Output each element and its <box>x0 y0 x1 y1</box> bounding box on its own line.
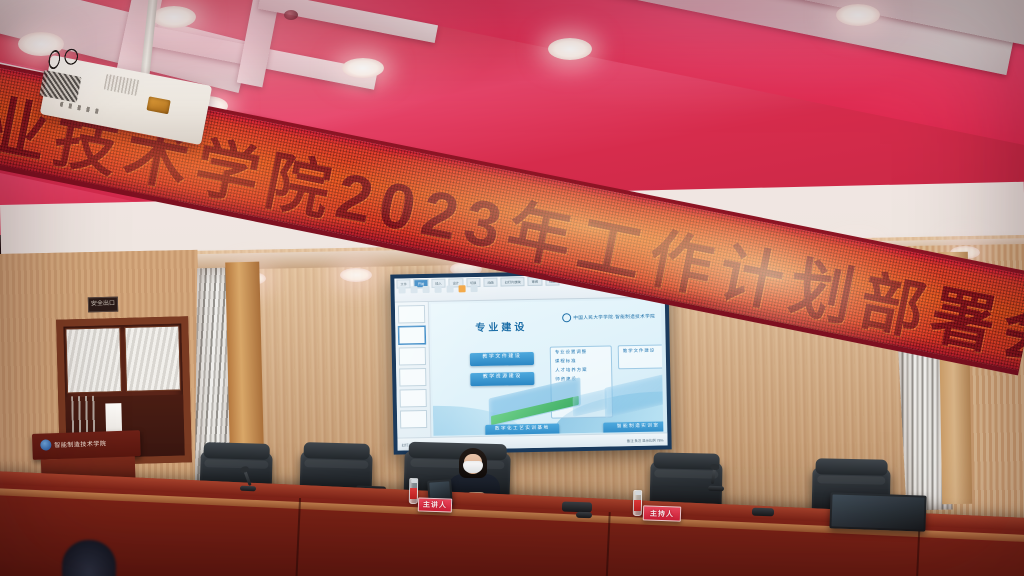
slide-canvas: 专业建设 中国人民大学学院·智能制造技术学院 教学文件建设 教学资源建设 专业设… <box>431 299 663 435</box>
slide-box-2: 教学文件建设 <box>618 344 664 369</box>
align-icon[interactable] <box>435 286 442 293</box>
slide-chip-1: 教学文件建设 <box>470 352 534 366</box>
slide-thumbnail[interactable] <box>398 305 425 324</box>
lectern-org-text: 智能制造技术学院 <box>54 438 106 449</box>
lectern-top: 智能制造技术学院 <box>32 430 141 460</box>
downlight <box>836 4 880 26</box>
bottle-cap <box>411 479 418 483</box>
school-emblem-icon <box>40 439 51 450</box>
slide-thumbnail-selected[interactable] <box>398 326 425 345</box>
face-mask <box>463 461 483 473</box>
laptop-screen <box>831 494 924 529</box>
slide-thumbnail[interactable] <box>400 410 427 429</box>
downlight <box>342 58 384 78</box>
downlight <box>152 6 196 28</box>
microphone-base <box>240 486 256 492</box>
open-laptop-right[interactable] <box>829 492 926 531</box>
slide-title: 专业建设 <box>475 318 527 334</box>
water-bottle <box>409 478 418 504</box>
water-bottle <box>633 490 642 516</box>
paste-icon[interactable] <box>399 286 406 293</box>
chair-headrest <box>816 458 888 475</box>
projector-buttons[interactable] <box>60 102 100 115</box>
bottle-cap <box>635 491 642 495</box>
slide-thumbnail[interactable] <box>400 389 427 408</box>
downlight <box>548 38 592 60</box>
nameplate-speaker: 主讲人 <box>418 497 452 512</box>
nameplate-host: 主持人 <box>643 505 682 521</box>
slide-chip-2: 教学资源建设 <box>470 372 534 386</box>
emblem-icon <box>562 313 571 322</box>
door-glass-panels <box>63 323 183 395</box>
bold-icon[interactable] <box>423 286 430 293</box>
bottle-label <box>634 500 641 511</box>
arrange-icon[interactable] <box>471 285 478 292</box>
microphone-base <box>562 501 592 512</box>
projector-vent <box>104 74 140 96</box>
microphone-base <box>752 508 774 517</box>
slide-thumbnail[interactable] <box>399 347 426 366</box>
shape-icon[interactable] <box>447 285 454 292</box>
downlight <box>340 268 372 282</box>
smoke-detector-icon <box>284 10 298 20</box>
microphone-base <box>576 512 592 519</box>
zoom-level: 备注 批注 显示比例 78% <box>627 437 664 443</box>
slide-box-line: 教学文件建设 <box>619 345 664 355</box>
bottle-label <box>410 488 417 499</box>
projector-lens <box>146 96 170 114</box>
ribbon-tool-group[interactable] <box>399 285 478 294</box>
lectern-nameplate: 智能制造技术学院 <box>40 437 106 450</box>
slide-thumbnail-pane[interactable] <box>395 302 432 451</box>
slide-thumbnail[interactable] <box>399 368 426 387</box>
chair-headrest <box>303 442 370 460</box>
chair-headrest <box>203 442 270 460</box>
exit-sign: 安全出口 <box>88 297 118 313</box>
font-icon[interactable] <box>411 286 418 293</box>
color-icon[interactable] <box>459 285 466 292</box>
conference-room-photo: 安全出口 文件 开始 插入 设计 切换 动画 幻灯片放映 <box>0 0 1024 576</box>
microphone-base <box>708 486 724 492</box>
